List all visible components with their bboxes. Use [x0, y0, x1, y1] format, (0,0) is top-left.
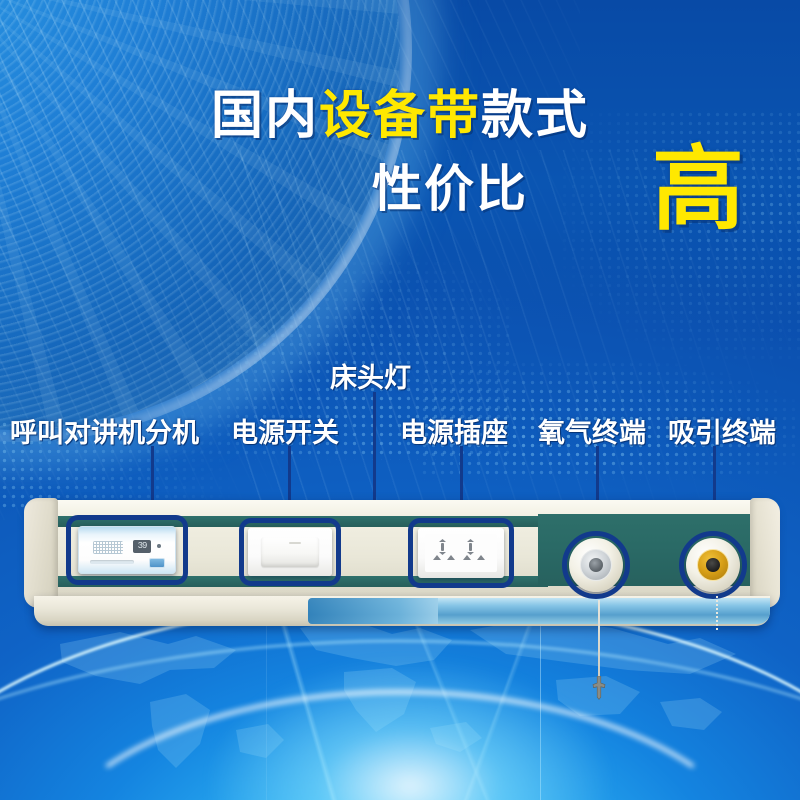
panel-end-cap-left — [24, 498, 58, 608]
callout-label-oxygen: 氧气终端 — [538, 411, 646, 450]
pull-cord[interactable] — [598, 600, 600, 678]
callout-label-bedlamp: 床头灯 — [330, 356, 411, 395]
highlight-box-intercom — [66, 515, 188, 585]
headline-seg-1: 国内 — [211, 87, 319, 145]
callout-label-intercom: 呼叫对讲机分机 — [10, 411, 199, 450]
headline-line-1: 国内设备带款式 — [0, 86, 800, 146]
headline-block: 国内设备带款式 性价比 高 — [0, 86, 800, 146]
headline-seg-3: 款式 — [481, 87, 589, 145]
emphasis-word: 高 — [652, 142, 744, 238]
pull-cord-handle-icon[interactable] — [588, 676, 610, 700]
callout-label-switch: 电源开关 — [231, 411, 339, 450]
highlight-box-switch — [239, 518, 341, 586]
headline-seg-2-highlight: 设备带 — [319, 87, 481, 145]
panel-end-cap-right — [750, 498, 780, 608]
pull-cord-secondary — [716, 596, 718, 632]
callout-label-suction: 吸引终端 — [668, 411, 776, 450]
highlight-circle-oxygen — [562, 531, 630, 599]
highlight-circle-suction — [679, 531, 747, 599]
product-banner: 国内设备带款式 性价比 高 呼叫对讲机分机 电源开关 床头灯 电源插座 氧气终端… — [0, 0, 800, 800]
bed-lamp-diffuser-shadow — [308, 598, 438, 624]
highlight-box-socket — [408, 518, 514, 588]
callout-label-socket: 电源插座 — [400, 411, 508, 450]
subheadline-text: 性价比 — [372, 160, 528, 218]
